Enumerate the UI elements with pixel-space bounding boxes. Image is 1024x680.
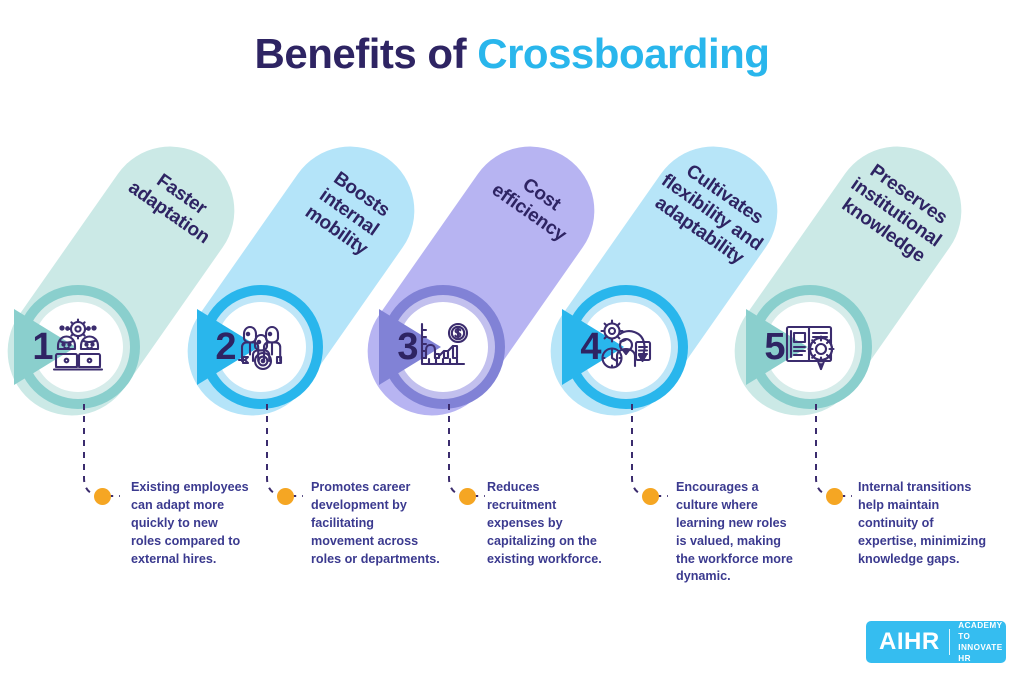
step-4-description: Encourages a culture where learning new … [676,479,806,586]
logo-tagline: ACADEMY TO INNOVATE HR [958,620,1006,664]
step-3-badge[interactable]: 3 [381,285,505,409]
logo-divider [949,629,951,655]
bullet-dot-5 [826,488,843,505]
logo-wordmark: AIHR [879,630,940,654]
step-2-number: 2 [205,323,247,371]
step-4-badge[interactable]: 4 [564,285,688,409]
page-title: Benefits of Crossboarding [0,30,1024,78]
step-1-badge[interactable]: 1 [16,285,140,409]
bullet-dot-2 [277,488,294,505]
step-3-number: 3 [387,323,429,371]
title-part-primary: Benefits of [255,30,478,77]
step-5-badge[interactable]: 5 [748,285,872,409]
step-5-number: 5 [754,323,796,371]
bullet-dot-1 [94,488,111,505]
step-1-number: 1 [22,323,64,371]
aihr-logo[interactable]: AIHR ACADEMY TO INNOVATE HR [866,621,1006,663]
title-part-accent: Crossboarding [477,30,769,77]
bullet-dot-3 [459,488,476,505]
step-4-number: 4 [570,323,612,371]
step-5-description: Internal transitions help maintain conti… [858,479,1003,568]
step-2-badge[interactable]: 2 [199,285,323,409]
step-1-description: Existing employees can adapt more quickl… [131,479,261,568]
step-3-description: Reduces recruitment expenses by capitali… [487,479,617,568]
step-2-description: Promotes career development by facilitat… [311,479,441,568]
bullet-dot-4 [642,488,659,505]
infographic-canvas: Benefits of Crossboarding Faster adaptat… [0,0,1024,680]
